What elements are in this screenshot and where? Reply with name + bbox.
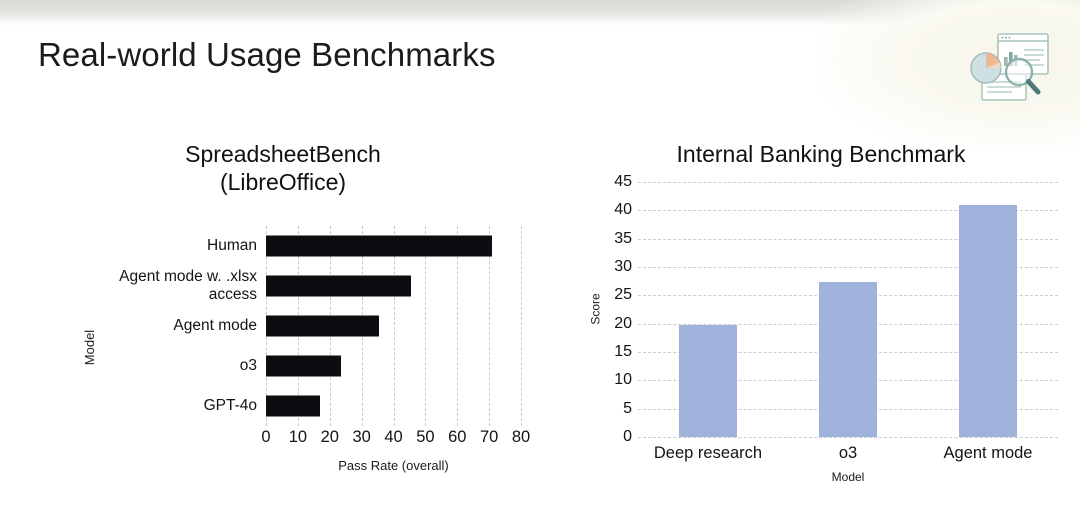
bar-category-label: GPT-4o (88, 397, 266, 415)
bar-track (266, 306, 521, 346)
y-axis-tick-label: 15 (614, 343, 632, 361)
x-axis-tick-label: 80 (512, 428, 530, 447)
x-axis-label-right: Model (638, 470, 1058, 484)
y-axis-tick-label: 35 (614, 230, 632, 248)
x-axis-tick-label: o3 (839, 444, 857, 463)
data-analysis-illustration-icon (960, 26, 1056, 110)
chart-title-line-1: SpreadsheetBench (48, 140, 518, 168)
y-axis-tick-label: 45 (614, 173, 632, 191)
y-axis-tick-label: 30 (614, 258, 632, 276)
x-axis-tick-label: 70 (480, 428, 498, 447)
bar-fill (266, 316, 379, 337)
x-axis-tick-label: 0 (261, 428, 270, 447)
bars-right (638, 182, 1058, 437)
x-axis-tick-label: Agent mode (944, 444, 1033, 463)
bar-row: o3 (88, 346, 538, 386)
bar-category-label: Human (88, 237, 266, 255)
plot-right (638, 182, 1058, 437)
bar (959, 205, 1017, 437)
y-axis-tick-label: 20 (614, 315, 632, 333)
chart-title-spreadsheetbench: SpreadsheetBench (LibreOffice) (48, 140, 518, 196)
y-axis-tick-label: 25 (614, 286, 632, 304)
bar-row: Agent mode (88, 306, 538, 346)
bar-category-label: Agent mode (88, 317, 266, 335)
bar-row: Human (88, 226, 538, 266)
chart-title-line-2: (LibreOffice) (48, 168, 518, 196)
x-axis-tick-label: 50 (416, 428, 434, 447)
chart-internal-banking: Internal Banking Benchmark Score 0510152… (576, 140, 1066, 510)
bar-track (266, 386, 521, 426)
bar-fill (266, 276, 411, 297)
bar-category-label: o3 (88, 357, 266, 375)
bar-row: GPT-4o (88, 386, 538, 426)
x-axis-tick-label: 60 (448, 428, 466, 447)
top-gradient-band (0, 0, 1080, 26)
gridline (638, 437, 1058, 438)
chart-plot-area-left: Model Human Agent mode w. .xlsx access (28, 226, 538, 456)
x-axis-tick-label: 40 (384, 428, 402, 447)
chart-plot-area-right: Score 051015202530354045 Deep researcho3… (576, 182, 1066, 482)
x-axis-tick-label: 10 (289, 428, 307, 447)
slide: Real-world Usage Benchmarks (0, 0, 1080, 517)
bar-row: Agent mode w. .xlsx access (88, 266, 538, 306)
y-axis-tick-label: 10 (614, 371, 632, 389)
x-axis-label-left: Pass Rate (overall) (266, 458, 521, 473)
y-axis-ticks-right: 051015202530354045 (592, 182, 632, 437)
x-axis-tick-label: Deep research (654, 444, 762, 463)
bar-category-label: Agent mode w. .xlsx access (88, 268, 266, 304)
x-axis-ticks-right: Deep researcho3Agent mode (638, 444, 1058, 468)
bar-fill (266, 236, 492, 257)
y-axis-tick-label: 5 (623, 400, 632, 418)
bar-fill (266, 356, 341, 377)
chart-title-internal-banking: Internal Banking Benchmark (576, 140, 1066, 168)
chart-spreadsheetbench: SpreadsheetBench (LibreOffice) Model Hum… (28, 140, 538, 510)
bar (819, 282, 877, 437)
bar-rows-left: Human Agent mode w. .xlsx access Agent m… (88, 226, 538, 426)
x-axis-tick-label: 30 (352, 428, 370, 447)
y-axis-tick-label: 0 (623, 428, 632, 446)
page-title: Real-world Usage Benchmarks (38, 36, 496, 74)
bar-track (266, 266, 521, 306)
y-axis-tick-label: 40 (614, 201, 632, 219)
x-axis-ticks-left: 01020304050607080 (266, 428, 521, 454)
bar-track (266, 226, 521, 266)
bar-fill (266, 396, 320, 417)
x-axis-tick-label: 20 (321, 428, 339, 447)
bar (679, 325, 737, 437)
bar-track (266, 346, 521, 386)
